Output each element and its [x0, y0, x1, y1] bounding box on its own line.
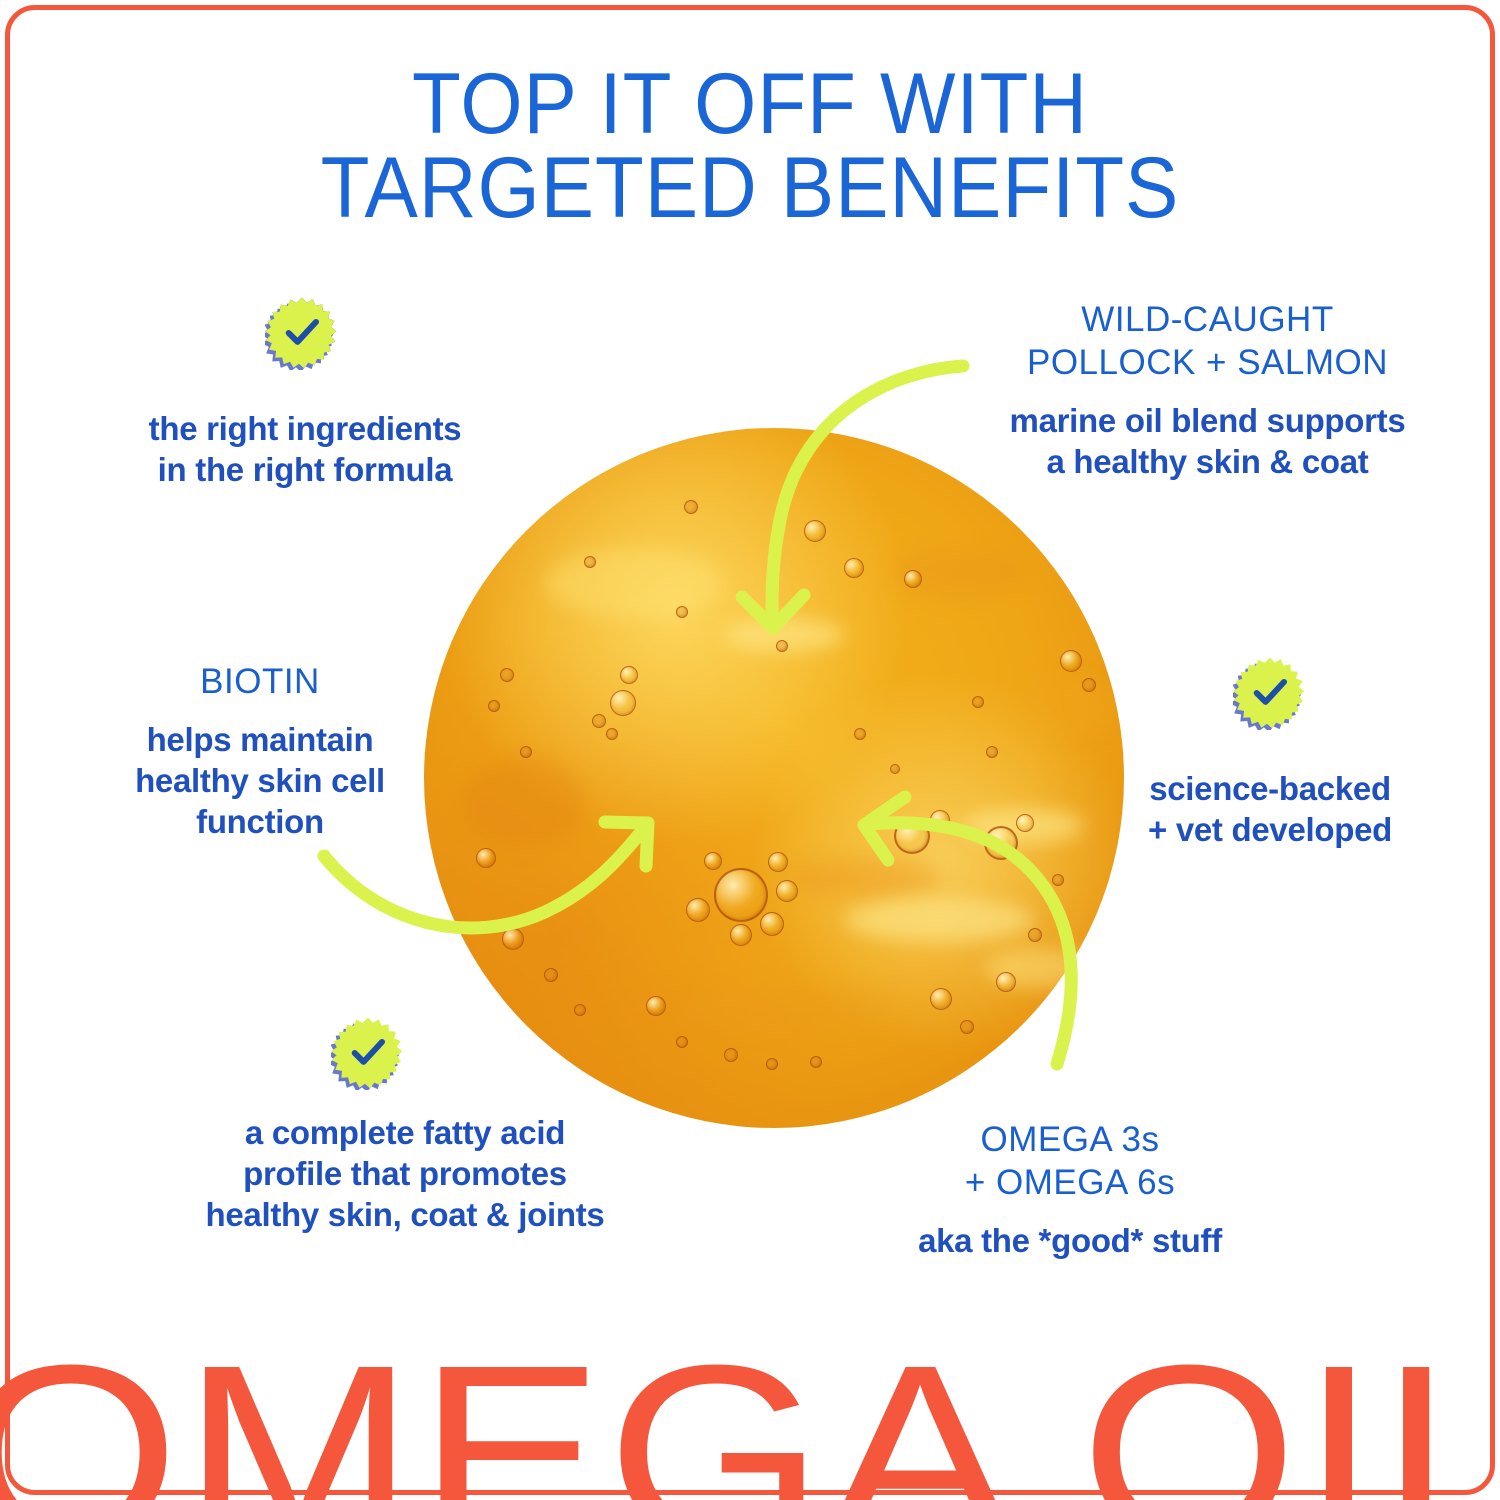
callout-biotin: BIOTIN helps maintain healthy skin cell … [25, 660, 495, 842]
product-wordmark: OMEGA OIL [0, 1338, 1500, 1500]
check-badge-icon [265, 296, 339, 370]
callout-body-line: profile that promotes [100, 1153, 710, 1194]
callout-body-line: function [25, 801, 495, 842]
omega-oil-droplet-photo [424, 428, 1124, 1128]
callout-body-line: helps maintain [25, 719, 495, 760]
callout-omega-3s-6s: OMEGA 3s + OMEGA 6s aka the *good* stuff [830, 1118, 1310, 1261]
callout-body-line: healthy skin, coat & joints [100, 1194, 710, 1235]
callout-body-line: healthy skin cell [25, 760, 495, 801]
callout-body-line: a complete fatty acid [100, 1112, 710, 1153]
callout-body-line: a healthy skin & coat [935, 441, 1480, 482]
callout-title-line: + OMEGA 6s [830, 1161, 1310, 1204]
callout-title-line: OMEGA 3s [830, 1118, 1310, 1161]
callout-body-line: in the right formula [25, 449, 585, 490]
headline-line-1: TOP IT OFF WITH [53, 62, 1448, 146]
callout-body-line: science-backed [1060, 768, 1480, 809]
infographic-page: TOP IT OFF WITH TARGETED BENEFITS [0, 0, 1500, 1500]
callout-wild-caught: WILD-CAUGHT POLLOCK + SALMON marine oil … [935, 298, 1480, 482]
callout-body-line: marine oil blend supports [935, 400, 1480, 441]
callout-body-line: aka the *good* stuff [830, 1220, 1310, 1261]
check-badge-icon [331, 1016, 405, 1090]
callout-fatty-acid: a complete fatty acid profile that promo… [100, 1112, 710, 1235]
callout-title-line: WILD-CAUGHT [935, 298, 1480, 341]
page-title: TOP IT OFF WITH TARGETED BENEFITS [53, 62, 1448, 230]
callout-science-backed: science-backed + vet developed [1060, 768, 1480, 850]
callout-body-line: + vet developed [1060, 809, 1480, 850]
callout-right-ingredients: the right ingredients in the right formu… [25, 408, 585, 490]
callout-title-line: BIOTIN [25, 660, 495, 703]
check-badge-icon [1233, 656, 1307, 730]
headline-line-2: TARGETED BENEFITS [53, 146, 1448, 230]
callout-title-line: POLLOCK + SALMON [935, 341, 1480, 384]
callout-body-line: the right ingredients [25, 408, 585, 449]
